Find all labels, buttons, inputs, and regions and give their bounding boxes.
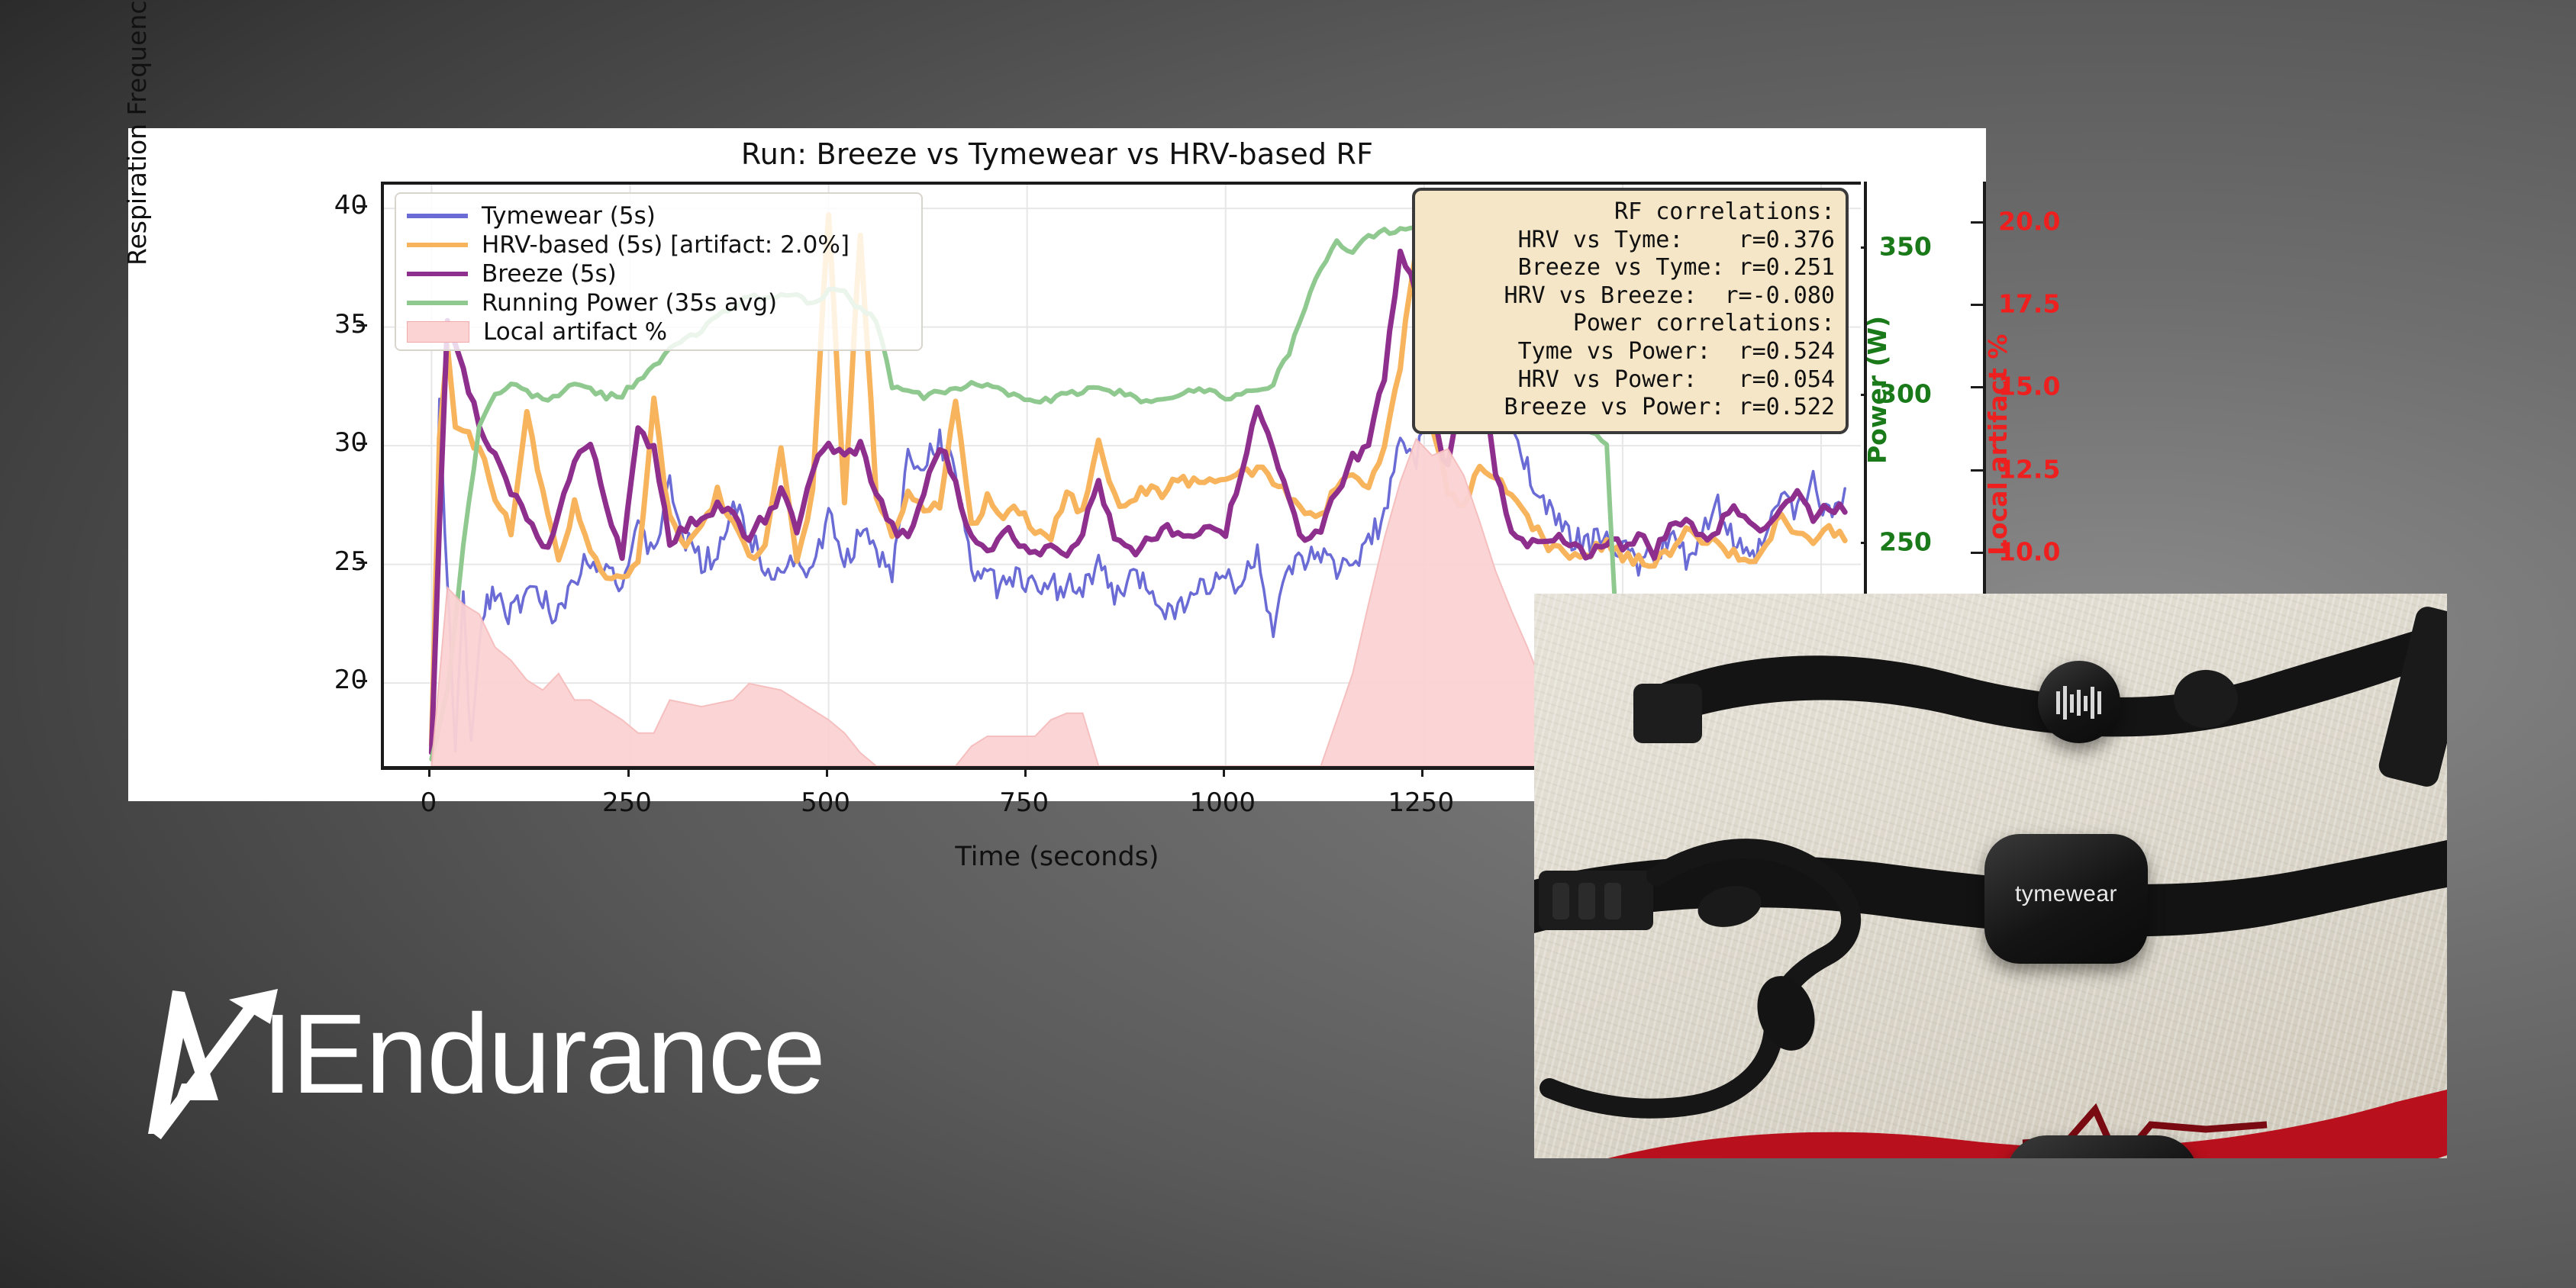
legend-item[interactable]: Local artifact % <box>407 317 911 346</box>
y-tick-mark <box>356 443 367 445</box>
correlation-line: Breeze vs Tyme: r=0.251 <box>1426 254 1835 282</box>
x-tick-label: 500 <box>801 787 850 818</box>
artifact-tick-label: 20.0 <box>1998 206 2060 236</box>
correlation-line: Breeze vs Power: r=0.522 <box>1426 394 1835 422</box>
power-tick-label: 250 <box>1879 526 1932 556</box>
legend-item[interactable]: Running Power (35s avg) <box>407 288 911 317</box>
y-tick-mark <box>356 562 367 564</box>
legend-swatch-1 <box>407 243 468 247</box>
power-tick-label: 300 <box>1879 379 1932 409</box>
correlation-annotation-box: RF correlations:HRV vs Tyme: r=0.376Bree… <box>1412 188 1849 434</box>
x-tick-label: 750 <box>999 787 1049 818</box>
x-tick-label: 250 <box>602 787 652 818</box>
artifact-tick-mark <box>1971 221 1983 224</box>
breeze-waveform-icon <box>2038 661 2120 743</box>
artifact-tick-label: 10.0 <box>1998 536 2060 566</box>
correlation-line: HRV vs Tyme: r=0.376 <box>1426 227 1835 255</box>
tymewear-sensor-pod: tymewear <box>1984 834 2148 964</box>
artifact-tick-label: 15.0 <box>1998 372 2060 401</box>
artifact-tick-mark <box>1971 304 1983 306</box>
power-tick-label: 350 <box>1879 232 1932 262</box>
correlation-line: Tyme vs Power: r=0.524 <box>1426 338 1835 366</box>
legend-label: Running Power (35s avg) <box>482 289 777 317</box>
legend-swatch-4 <box>407 321 469 343</box>
artifact-tick-mark <box>1971 469 1983 472</box>
legend-swatch-0 <box>407 214 468 218</box>
y-axis-label-left: Respiration Frequency (breaths/min) <box>122 0 152 266</box>
legend-label: Local artifact % <box>483 318 667 346</box>
legend-label: Breeze (5s) <box>482 260 617 288</box>
x-tick-label: 1250 <box>1388 787 1455 818</box>
breeze-sensor-pod <box>2038 661 2120 743</box>
y-tick-mark <box>356 205 367 208</box>
y-tick-mark <box>356 324 367 327</box>
legend-item[interactable]: Breeze (5s) <box>407 259 911 288</box>
slide-background: Run: Breeze vs Tymewear vs HRV-based RF … <box>0 0 2576 1288</box>
polar-sensor-pod: POLAR <box>2006 1135 2198 1158</box>
artifact-tick-mark <box>1971 386 1983 388</box>
correlation-line: HRV vs Breeze: r=-0.080 <box>1426 282 1835 311</box>
tymewear-pod-label: tymewear <box>1984 881 2148 907</box>
correlation-line: Power correlations: <box>1426 310 1835 338</box>
brand-logo-text: IEndurance <box>262 998 824 1111</box>
artifact-tick-label: 12.5 <box>1998 454 2060 484</box>
y-tick-mark <box>356 680 367 682</box>
polar-chest-strap <box>1534 1067 2447 1158</box>
chart-title: Run: Breeze vs Tymewear vs HRV-based RF <box>128 137 1986 171</box>
x-tick-label: 0 <box>421 787 437 818</box>
y-axis-ticks-left: 2025303540 <box>277 182 367 766</box>
device-photo: tymewear POLAR <box>1534 594 2447 1158</box>
chart-legend[interactable]: Tymewear (5s)HRV-based (5s) [artifact: 2… <box>395 192 923 351</box>
polar-logo-icon: POLAR <box>2006 1135 2198 1158</box>
correlation-line: HRV vs Power: r=0.054 <box>1426 366 1835 394</box>
brand-logo: IEndurance <box>128 984 853 1145</box>
legend-swatch-3 <box>407 301 468 305</box>
legend-swatch-2 <box>407 272 468 276</box>
legend-label: HRV-based (5s) [artifact: 2.0%] <box>482 231 850 259</box>
legend-item[interactable]: Tymewear (5s) <box>407 201 911 230</box>
artifact-tick-mark <box>1971 552 1983 554</box>
correlation-line: RF correlations: <box>1426 198 1835 227</box>
x-tick-label: 1000 <box>1189 787 1256 818</box>
legend-item[interactable]: HRV-based (5s) [artifact: 2.0%] <box>407 230 911 259</box>
artifact-tick-label: 17.5 <box>1998 289 2060 319</box>
legend-label: Tymewear (5s) <box>482 202 656 230</box>
